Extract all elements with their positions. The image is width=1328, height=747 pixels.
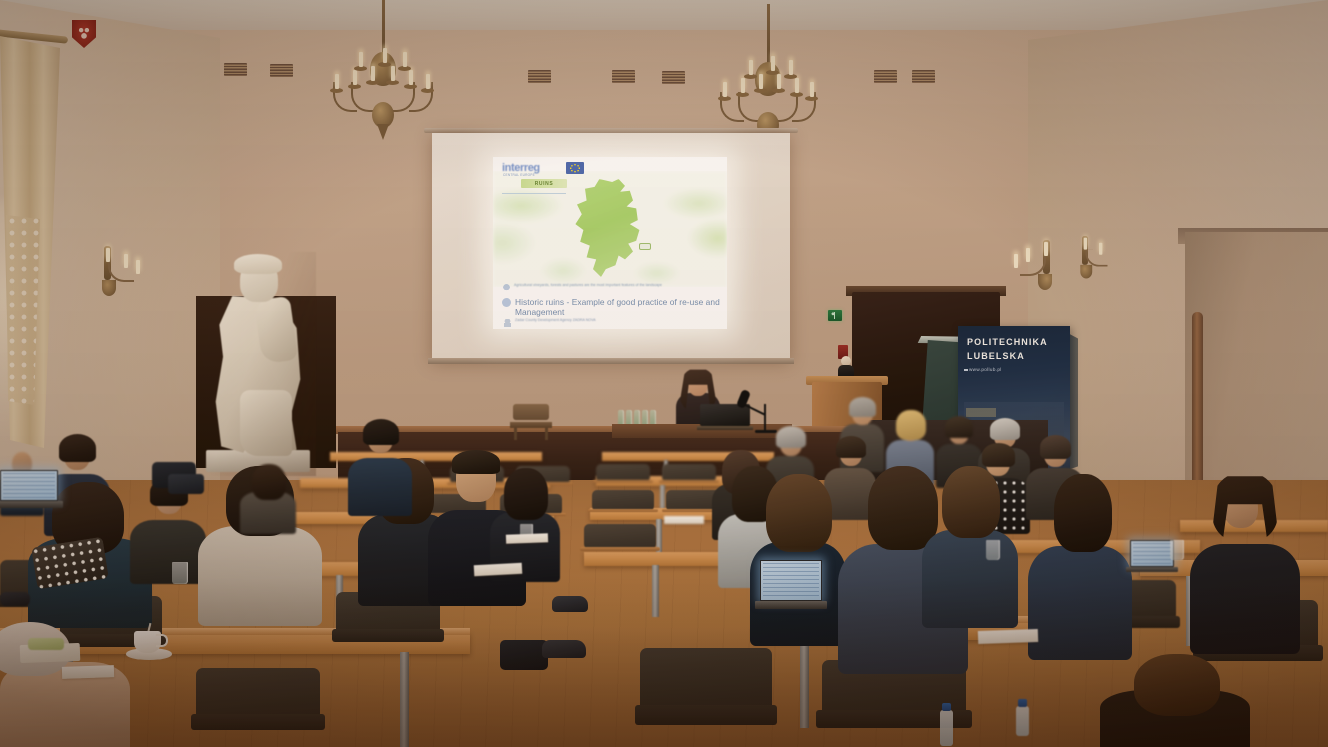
- open-laptop[interactable]: [760, 560, 822, 612]
- map-pin-icon: [503, 284, 510, 292]
- open-laptop[interactable]: [0, 470, 58, 510]
- audience-chair-foreground[interactable]: [196, 668, 320, 747]
- slide-credit: Zadar County Development Agency ZADRA NO…: [515, 318, 596, 322]
- water-bottle[interactable]: [940, 710, 953, 746]
- audience-member: [922, 470, 1018, 620]
- wall-vent-2: [270, 64, 293, 77]
- plaster-statue: [200, 252, 316, 476]
- slide-title: Historic ruins - Example of good practic…: [515, 297, 722, 318]
- slide-map-caption-row: Agricultural vineyards, forests and past…: [503, 283, 719, 292]
- printed-handout[interactable]: [506, 533, 548, 543]
- desk-leg: [400, 652, 409, 747]
- banner-line-1: POLITECHNIKA: [967, 337, 1048, 347]
- printed-handout[interactable]: [62, 665, 114, 679]
- slide-map: [493, 171, 727, 287]
- presentation-slide: interreg CENTRAL EUROPE RUINS Agricultur…: [493, 157, 727, 329]
- chandelier-finial-tip: [377, 124, 389, 140]
- eu-flag-icon: [566, 162, 584, 174]
- audience-member: [490, 470, 560, 574]
- emergency-exit-icon: [828, 310, 842, 321]
- slide-credit-row: Zadar County Development Agency ZADRA NO…: [504, 318, 714, 327]
- gooseneck-microphone: [733, 390, 769, 434]
- open-laptop[interactable]: [1130, 540, 1174, 574]
- statue-helmet: [234, 254, 282, 274]
- audience-chair-foreground[interactable]: [640, 648, 772, 747]
- wall-vent-6: [874, 70, 897, 83]
- lace-curtain-panel: [6, 215, 40, 405]
- slide-map-caption: Agricultural vineyards, forests and past…: [514, 283, 662, 287]
- desk-leg: [800, 640, 809, 728]
- chandelier-left: [328, 0, 438, 144]
- audience-chair[interactable]: [584, 524, 656, 572]
- snack-garnish: [28, 638, 64, 650]
- audience-member: [348, 424, 412, 510]
- banner-line-2: LUBELSKA: [967, 351, 1025, 361]
- interreg-logo: interreg CENTRAL EUROPE: [502, 162, 588, 177]
- water-bottle[interactable]: [1016, 706, 1029, 736]
- statue-legs: [240, 390, 292, 456]
- coffee-cup[interactable]: [126, 628, 172, 660]
- audience-member: [130, 480, 206, 576]
- lectern-item: [838, 356, 854, 378]
- water-glass[interactable]: [1170, 540, 1184, 560]
- water-glass[interactable]: [172, 562, 188, 584]
- shoe: [542, 640, 586, 658]
- projection-screen-bottom-bar: [428, 358, 794, 364]
- slide-logo-divider: [502, 193, 566, 194]
- wall-vent-3: [528, 70, 551, 83]
- audience-member: [750, 478, 846, 638]
- audience-member: [1028, 476, 1132, 652]
- wall-vent-4: [612, 70, 635, 83]
- conference-hall-photo: interreg CENTRAL EUROPE RUINS Agricultur…: [0, 0, 1328, 747]
- wall-vent-7: [912, 70, 935, 83]
- chandelier-chain: [767, 4, 770, 66]
- printed-handout[interactable]: [664, 516, 704, 524]
- wall-vent-5: [662, 71, 685, 84]
- speech-bubble-icon: [502, 298, 511, 307]
- bag: [500, 640, 548, 670]
- bag: [168, 474, 204, 494]
- slide-title-row: Historic ruins - Example of good practic…: [502, 297, 722, 318]
- person-icon: [504, 319, 511, 327]
- desk-leg: [652, 565, 659, 617]
- audience-member: [240, 466, 296, 526]
- shoe: [0, 592, 30, 606]
- empty-chair[interactable]: [510, 404, 552, 438]
- banner-url: www.pollub.pl: [969, 367, 1002, 372]
- map-location-pin: [639, 243, 651, 250]
- audience-member-foreground: [1100, 660, 1250, 747]
- printed-handout[interactable]: [978, 629, 1038, 644]
- interreg-subline: CENTRAL EUROPE: [503, 173, 535, 177]
- ruins-project-badge: RUINS: [521, 179, 567, 188]
- shoe: [552, 596, 588, 612]
- audience-member-foreground: [0, 622, 130, 747]
- water-glass[interactable]: [986, 540, 1000, 560]
- audience-member: [1190, 476, 1300, 646]
- university-crest-detail: [76, 24, 92, 42]
- wall-vent-1: [224, 63, 247, 76]
